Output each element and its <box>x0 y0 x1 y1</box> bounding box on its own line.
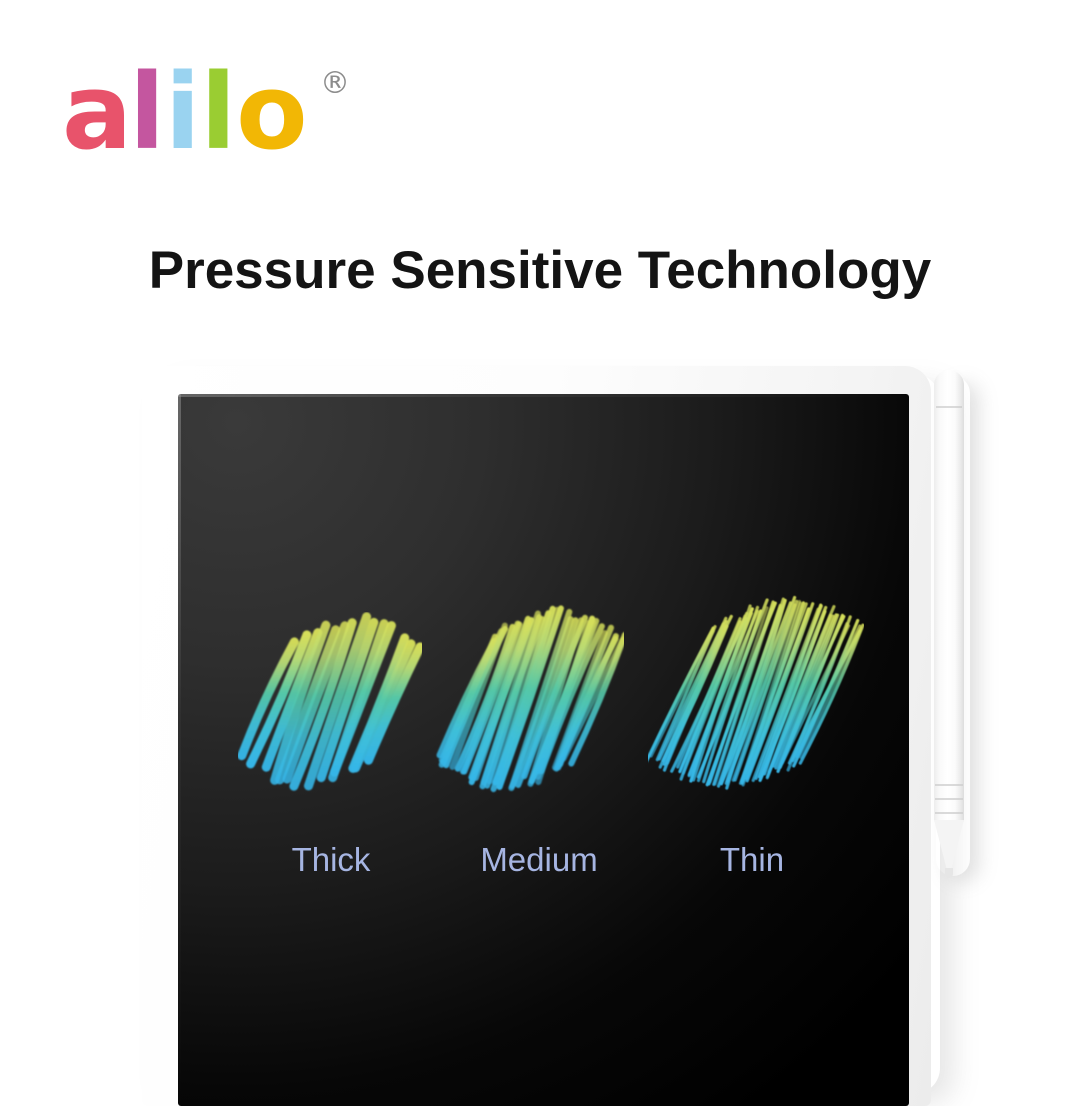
stylus-grip-ring <box>935 784 963 786</box>
stroke-sample-thin <box>648 592 864 794</box>
registered-trademark-icon: ® <box>320 66 350 101</box>
stylus-tip-cap <box>945 868 953 878</box>
stroke-sample-medium <box>432 604 624 794</box>
brand-logo: alilo ® <box>62 62 362 162</box>
stylus-seam-line <box>936 406 962 408</box>
logo-letter-a: a <box>62 62 131 162</box>
page-title: Pressure Sensitive Technology <box>0 240 1080 301</box>
screen-top-highlight <box>178 394 909 397</box>
stylus-pen[interactable] <box>934 370 964 882</box>
stylus-barrel <box>934 370 964 822</box>
stroke-sample-thick <box>238 612 422 792</box>
brand-logo-wordmark: alilo <box>62 62 307 162</box>
screen-left-highlight <box>178 394 181 1106</box>
product-banner: alilo ® Pressure Sensitive Technology Th… <box>0 0 1080 1080</box>
logo-letter-l2: l <box>201 62 236 162</box>
stylus-grip-ring <box>935 812 963 814</box>
stroke-label-thick: Thick <box>292 841 371 879</box>
logo-letter-l1: l <box>129 62 164 162</box>
stylus-grip-ring <box>935 798 963 800</box>
logo-letter-i: i <box>165 62 200 162</box>
stroke-label-thin: Thin <box>720 841 784 879</box>
stroke-label-medium: Medium <box>480 841 597 879</box>
logo-letter-o: o <box>236 62 306 162</box>
